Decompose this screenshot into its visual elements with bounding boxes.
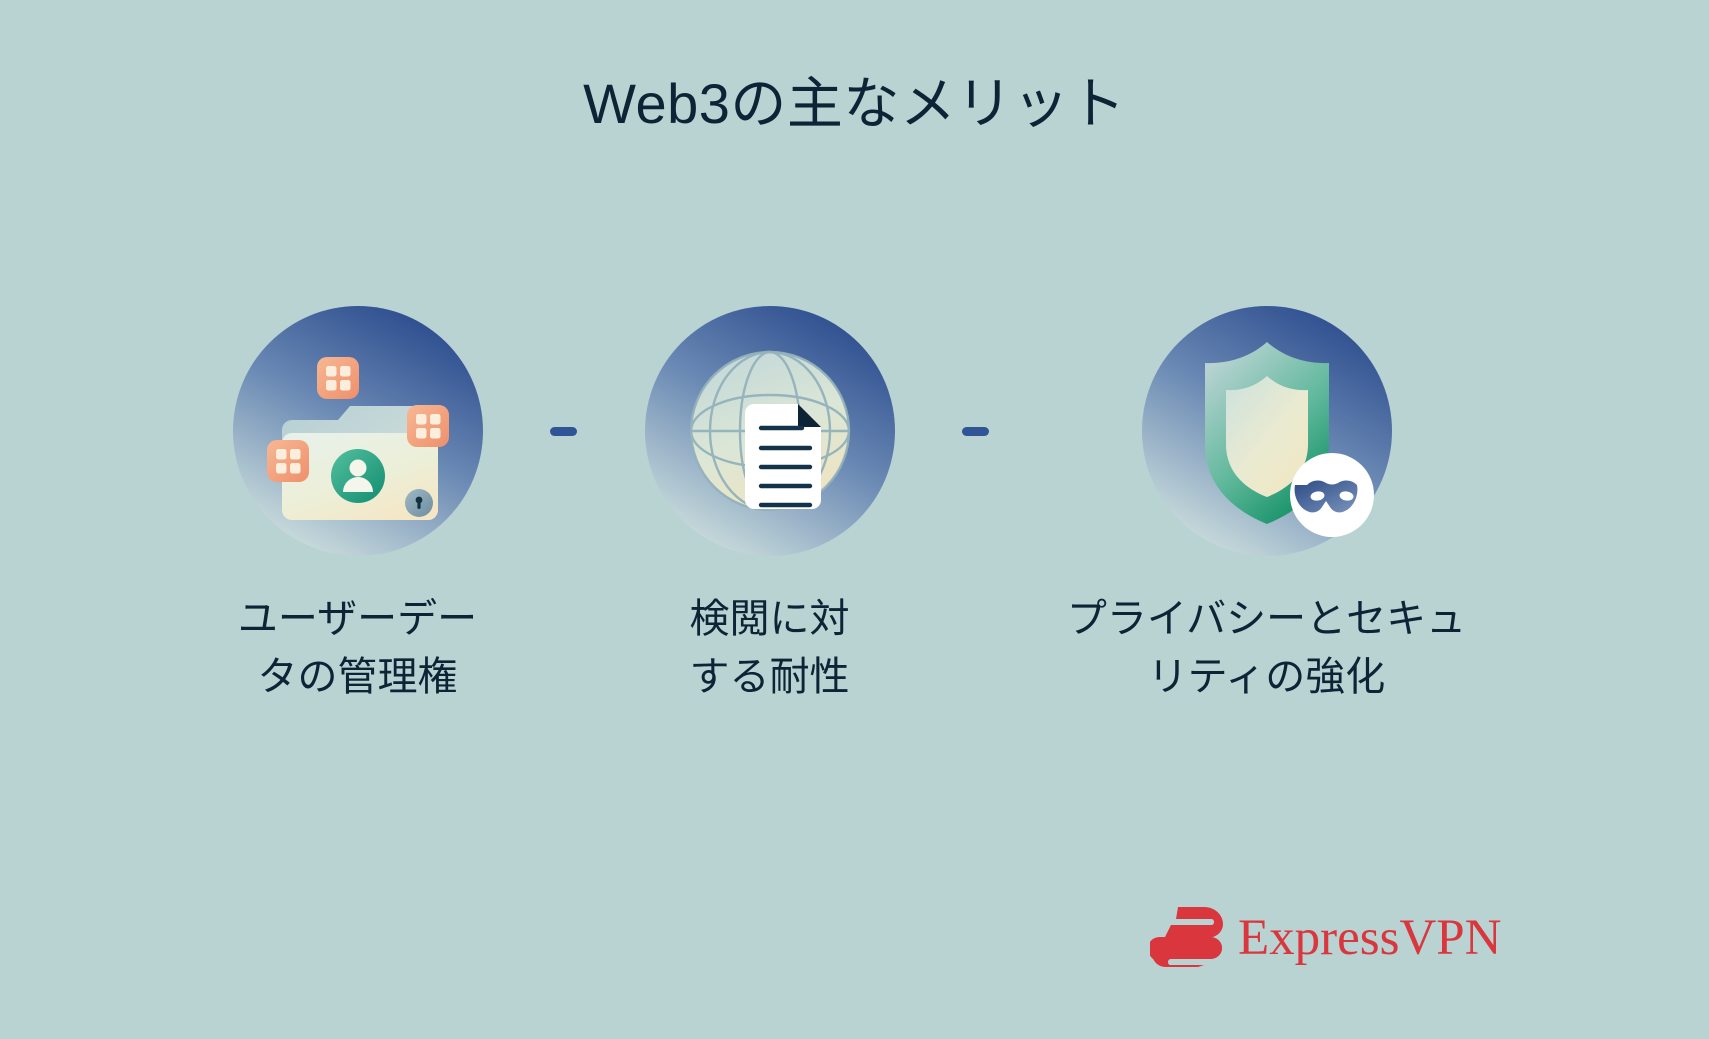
dash-icon — [550, 427, 577, 436]
benefit-label-line: リティの強化 — [1148, 655, 1386, 699]
benefit-label-user-data-control: ユーザーデー タの管理権 — [208, 590, 508, 706]
benefit-label-line: する耐性 — [690, 655, 850, 699]
folder-user-lock-icon — [227, 300, 489, 562]
benefits-row: ユーザーデー タの管理権 — [0, 300, 1709, 720]
benefit-item-user-data-control: ユーザーデー タの管理権 — [208, 300, 508, 706]
benefit-item-privacy-security: プライバシーとセキュ リティの強化 — [1032, 300, 1502, 706]
connector-dash-2 — [920, 300, 1032, 562]
infographic-canvas: Web3の主なメリット — [0, 0, 1709, 1039]
benefit-item-censorship-resistance: 検閲に対 する耐性 — [620, 300, 920, 706]
benefit-label-line: プライバシーとセキュ — [1067, 597, 1466, 641]
expressvpn-e-mark-icon — [1150, 905, 1224, 972]
benefit-label-line: タの管理権 — [258, 655, 458, 699]
expressvpn-logo: ExpressVPN — [1150, 905, 1502, 972]
connector-dash-1 — [508, 300, 620, 562]
benefit-label-line: 検閲に対 — [690, 597, 850, 641]
dash-icon — [962, 427, 989, 436]
expressvpn-wordmark: ExpressVPN — [1238, 913, 1502, 964]
benefit-label-line: ユーザーデー — [238, 597, 477, 641]
globe-document-icon — [639, 300, 901, 562]
benefit-label-privacy-security: プライバシーとセキュ リティの強化 — [1032, 590, 1502, 706]
shield-mask-icon — [1136, 300, 1398, 562]
benefit-label-censorship-resistance: 検閲に対 する耐性 — [620, 590, 920, 706]
page-title: Web3の主なメリット — [0, 72, 1709, 136]
